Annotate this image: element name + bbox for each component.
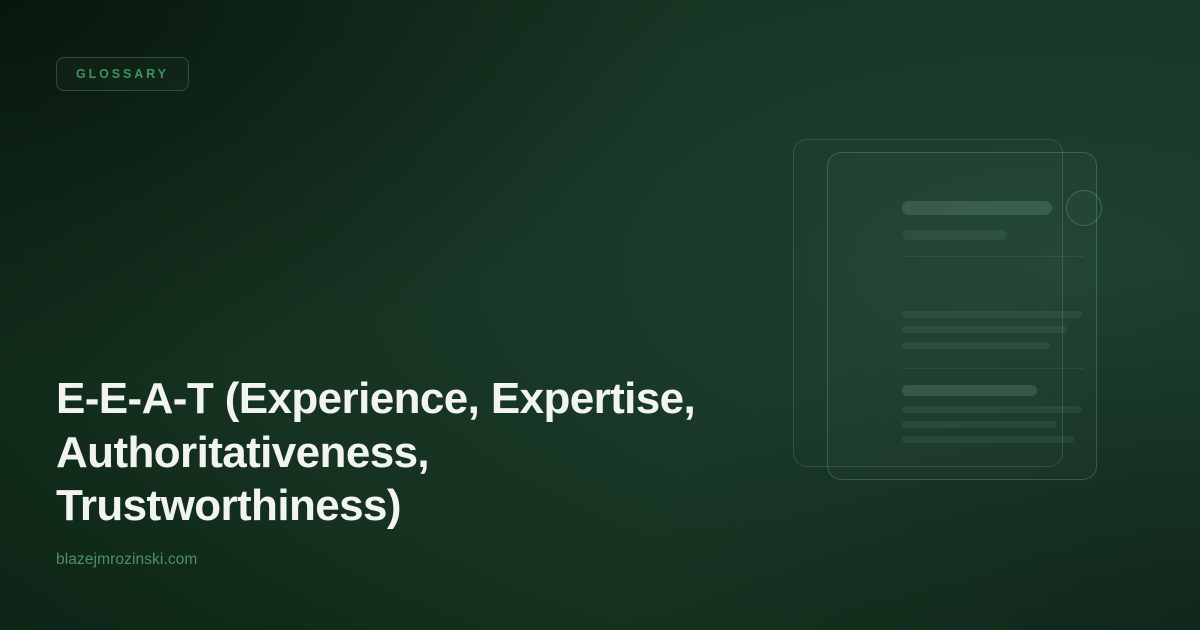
document-text-bar-1 <box>902 230 1007 240</box>
document-text-bar-5 <box>902 385 1037 396</box>
page-title: E-E-A-T (Experience, Expertise, Authorit… <box>56 372 716 533</box>
document-front-card <box>827 152 1097 480</box>
og-image-card: GLOSSARY E-E-A-T (Experience, Expertise,… <box>0 0 1200 630</box>
document-illustration <box>780 125 1110 493</box>
document-content <box>828 153 1096 479</box>
document-divider-1 <box>902 368 1084 369</box>
document-text-bar-8 <box>902 436 1074 443</box>
document-text-bar-3 <box>902 326 1067 333</box>
document-divider-0 <box>902 256 1084 257</box>
category-badge[interactable]: GLOSSARY <box>56 57 189 91</box>
document-text-bar-7 <box>902 421 1057 428</box>
document-text-bar-0 <box>902 201 1052 215</box>
site-domain: blazejmrozinski.com <box>56 551 197 569</box>
document-text-bar-6 <box>902 406 1082 413</box>
document-text-bar-4 <box>902 342 1050 349</box>
category-badge-label: GLOSSARY <box>76 68 169 81</box>
document-avatar-circle-icon <box>1066 190 1102 226</box>
document-text-bar-2 <box>902 311 1082 318</box>
